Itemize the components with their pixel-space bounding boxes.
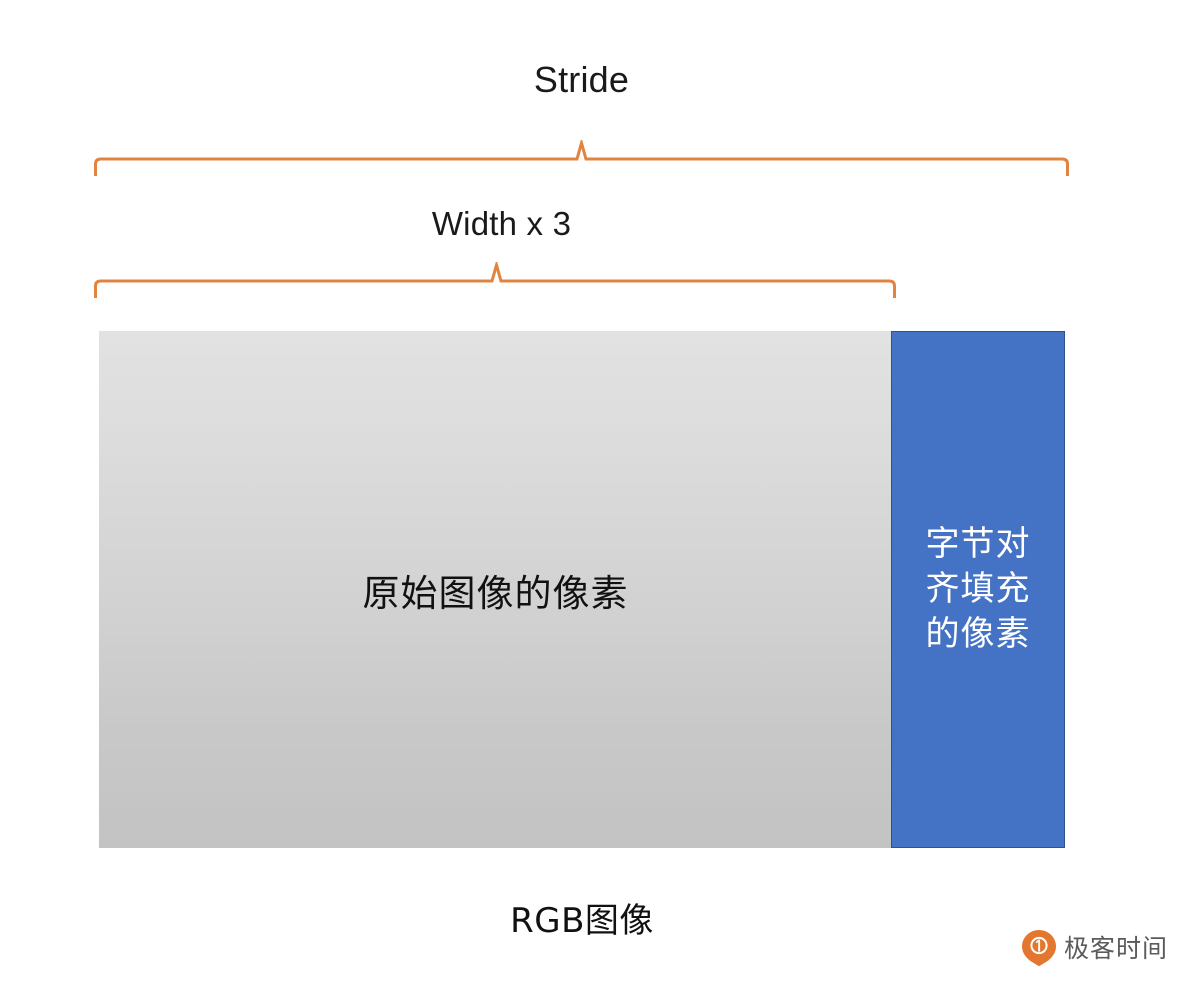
- padding-pixels-rect: 字节对 齐填充 的像素: [891, 331, 1065, 848]
- stride-brace: [92, 140, 1077, 180]
- watermark-brand: 极客时间: [1064, 936, 1168, 961]
- geekbang-pin-icon: [1021, 929, 1057, 967]
- padding-pixels-label: 字节对 齐填充 的像素: [892, 332, 1064, 847]
- padding-pixels-line-1: 字节对: [926, 522, 1031, 567]
- diagram-canvas: Stride Width x 3 原始图像的像素 字节对 齐填充 的像素 RGB…: [0, 0, 1192, 991]
- original-image-pixels-rect: 原始图像的像素: [99, 331, 892, 848]
- diagram-caption: RGB图像: [99, 893, 1065, 942]
- original-image-pixels-label: 原始图像的像素: [99, 331, 892, 848]
- width-brace: [92, 262, 904, 302]
- padding-pixels-line-2: 齐填充: [926, 567, 1031, 612]
- stride-brace-shape: [92, 140, 1077, 180]
- watermark: 极客时间: [1021, 929, 1168, 967]
- width-brace-shape: [92, 262, 904, 302]
- width-label: Width x 3: [0, 204, 1003, 244]
- padding-pixels-line-3: 的像素: [926, 612, 1031, 657]
- stride-label: Stride: [0, 58, 1163, 101]
